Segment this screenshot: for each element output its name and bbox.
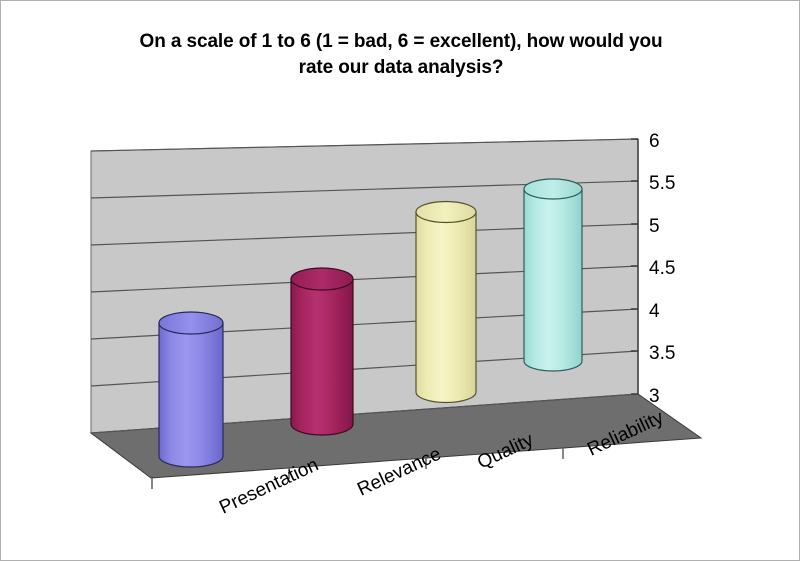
y-tick-label-5: 5: [649, 216, 660, 237]
y-tick-label-3: 3: [649, 386, 660, 407]
y-tick-label-4-5: 4.5: [649, 258, 675, 279]
bar-quality[interactable]: [416, 202, 476, 403]
y-tick-label-4: 4: [649, 301, 660, 322]
bar-body-relevance: [291, 279, 353, 435]
bar-presentation[interactable]: [159, 312, 223, 467]
chart-plot-area: 3 3.5 4 4.5 5 5.5 6 Presentation Relevan…: [1, 1, 800, 561]
y-tick-label-6: 6: [649, 131, 660, 152]
bar-top-reliability: [524, 179, 582, 199]
bar-top-presentation: [159, 312, 223, 334]
y-tick-label-3-5: 3.5: [649, 343, 675, 364]
bar-body-presentation: [159, 323, 223, 467]
chart-canvas: On a scale of 1 to 6 (1 = bad, 6 = excel…: [0, 0, 800, 561]
y-tick-label-5-5: 5.5: [649, 173, 675, 194]
bar-body-reliability: [524, 189, 582, 371]
bar-top-relevance: [291, 268, 353, 290]
bar-reliability[interactable]: [524, 179, 582, 371]
bar-body-quality: [416, 212, 476, 403]
bar-relevance[interactable]: [291, 268, 353, 435]
bar-top-quality: [416, 202, 476, 223]
